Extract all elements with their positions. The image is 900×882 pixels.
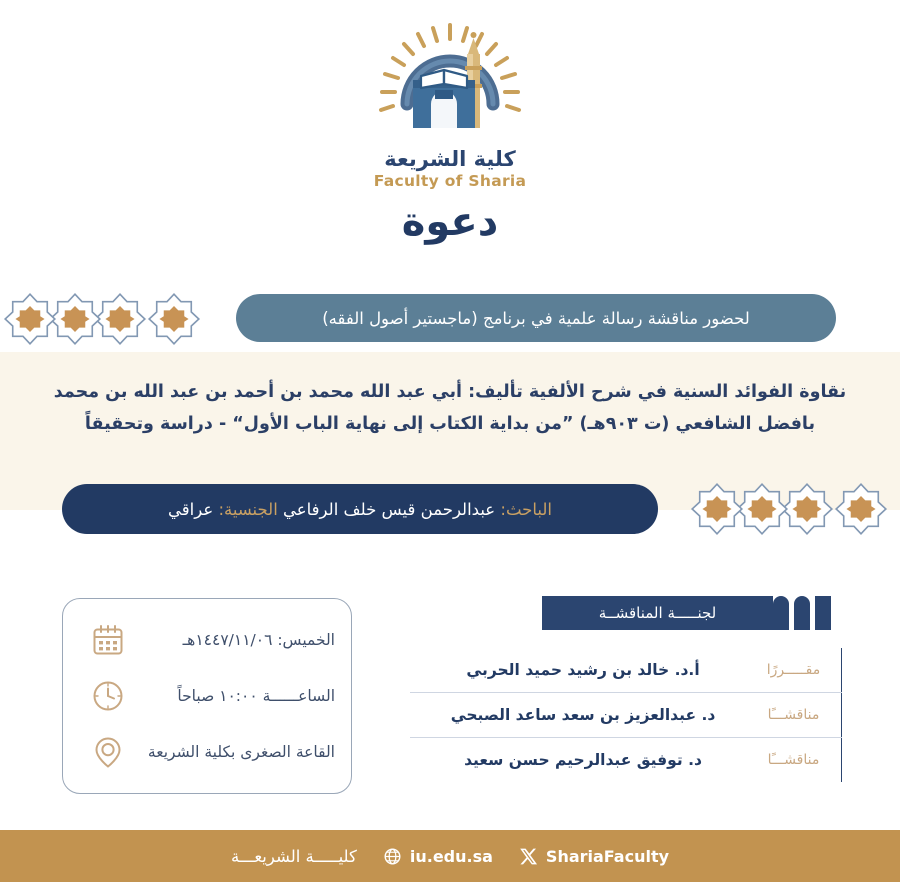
committee-member-name: د. توفيق عبدالرحيم حسن سعيد [410, 751, 746, 769]
event-date-row: الخميس: ١٤٤٧/١١/٠٦هـ [79, 612, 335, 668]
invitation-banner: لحضور مناقشة رسالة علمية في برنامج (ماجس… [236, 294, 836, 342]
logo-block: كلية الشريعة Faculty of Sharia دعوة [0, 18, 900, 242]
invitation-wordmark: دعوة [0, 202, 900, 242]
committee-member-role: مقـــــررًا [746, 648, 842, 692]
event-place-text: القاعة الصغرى بكلية الشريعة [125, 743, 335, 761]
location-pin-icon [91, 735, 125, 769]
thesis-title: نقاوة الفوائد السنية في شرح الألفية تألي… [28, 376, 872, 441]
researcher-label: الباحث: [500, 500, 552, 519]
twitter-handle: ShariaFaculty [546, 847, 669, 866]
logo-arabic-name: كلية الشريعة [0, 147, 900, 171]
arch-bar [794, 596, 810, 630]
logo-english-name: Faculty of Sharia [0, 172, 900, 190]
clock-icon [91, 679, 125, 713]
eight-point-star-icon [834, 482, 888, 536]
arch-bar [815, 596, 831, 630]
eight-point-star-icon [3, 292, 57, 346]
globe-icon [383, 847, 402, 866]
invitation-poster: كلية الشريعة Faculty of Sharia دعوة لحضو… [0, 0, 900, 882]
calendar-icon [91, 623, 125, 657]
eight-point-star-icon [147, 292, 201, 346]
thesis-title-line-2: بافضل الشافعي (ت ٩٠٣هـ) ”من بداية الكتاب… [28, 408, 872, 440]
committee-member-row: مقـــــررًا أ.د. خالد بن رشيد حميد الحرب… [410, 648, 842, 693]
nationality-label: الجنسية: [218, 500, 277, 519]
x-twitter-icon [519, 847, 538, 866]
website-link[interactable]: iu.edu.sa [383, 847, 493, 866]
event-details-card: الخميس: ١٤٤٧/١١/٠٦هـ الساعــــــة ١٠:٠٠ … [62, 598, 352, 794]
committee-heading-text: لجنـــــة المناقشــة [542, 596, 773, 630]
committee-section: لجنـــــة المناقشــة [542, 596, 842, 630]
star-ornament-group-right [699, 482, 888, 536]
committee-member-role: مناقشـــًا [746, 693, 842, 737]
twitter-link[interactable]: ShariaFaculty [519, 847, 669, 866]
researcher-banner: الباحث: عبدالرحمن قيس خلف الرفاعي الجنسي… [62, 484, 658, 534]
event-time-text: الساعــــــة ١٠:٠٠ صباحاً [125, 687, 335, 705]
committee-member-row: مناقشـــًا د. توفيق عبدالرحيم حسن سعيد [410, 738, 842, 782]
thesis-title-line-1: نقاوة الفوائد السنية في شرح الألفية تألي… [28, 376, 872, 408]
website-url: iu.edu.sa [410, 847, 493, 866]
event-place-row: القاعة الصغرى بكلية الشريعة [79, 724, 335, 780]
footer-college-name: كليـــــة الشريعـــة [231, 847, 357, 866]
star-ornament-group-left [12, 292, 201, 346]
committee-heading: لجنـــــة المناقشــة [542, 596, 842, 630]
arch-decoration [773, 596, 836, 630]
nationality-value: عراقي [168, 500, 213, 519]
invitation-banner-text: لحضور مناقشة رسالة علمية في برنامج (ماجس… [322, 309, 750, 328]
committee-member-row: مناقشـــًا د. عبدالعزيز بن سعد ساعد الصب… [410, 693, 842, 738]
footer-bar: ShariaFaculty iu.edu.sa كليـــــة الشريع… [0, 830, 900, 882]
committee-member-role: مناقشـــًا [746, 738, 842, 782]
researcher-name: عبدالرحمن قيس خلف الرفاعي [283, 500, 495, 519]
committee-member-name: أ.د. خالد بن رشيد حميد الحربي [410, 661, 746, 679]
event-time-row: الساعــــــة ١٠:٠٠ صباحاً [79, 668, 335, 724]
committee-member-name: د. عبدالعزيز بن سعد ساعد الصبحي [410, 706, 746, 724]
committee-members-list: مقـــــررًا أ.د. خالد بن رشيد حميد الحرب… [410, 648, 842, 782]
eight-point-star-icon [690, 482, 744, 536]
faculty-of-sharia-logo [375, 18, 525, 143]
arch-bar [773, 596, 789, 630]
event-date-text: الخميس: ١٤٤٧/١١/٠٦هـ [125, 631, 335, 649]
